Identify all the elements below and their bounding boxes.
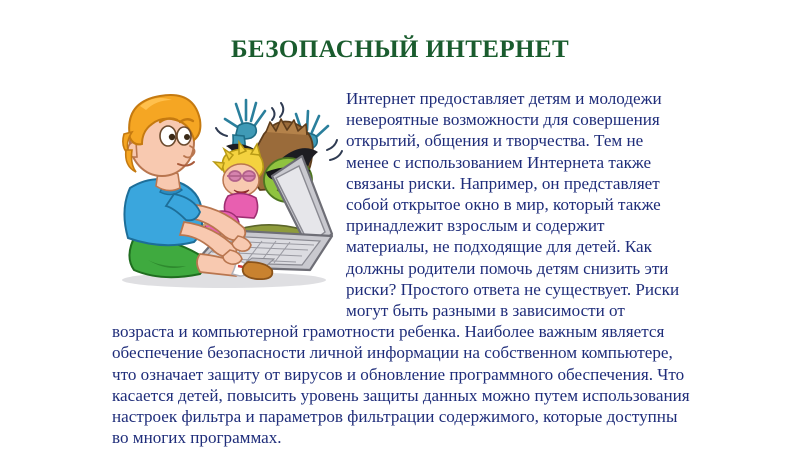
illustration-text-wrap-spacer bbox=[112, 88, 346, 303]
page-title: БЕЗОПАСНЫЙ ИНТЕРНЕТ bbox=[0, 36, 800, 64]
article-body: Интернет предоставляет детям и молодежи … bbox=[112, 88, 690, 448]
page-root: БЕЗОПАСНЫЙ ИНТЕРНЕТ bbox=[0, 0, 800, 469]
